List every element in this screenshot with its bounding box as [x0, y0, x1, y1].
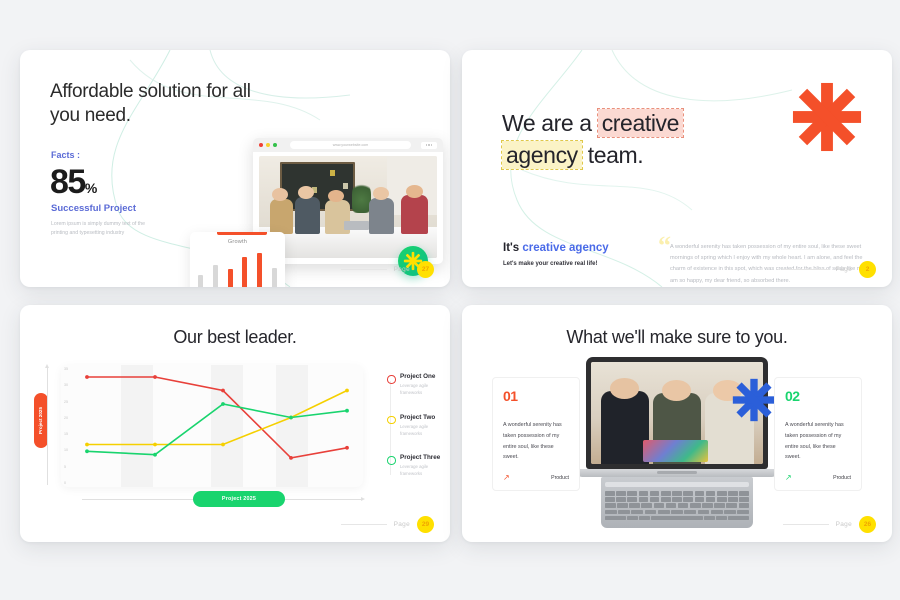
slide-creative-agency[interactable]: We are a creative agency team. It's crea… — [462, 50, 892, 287]
heading-highlight-agency: agency — [502, 141, 582, 169]
y-tick: 20 — [64, 416, 68, 420]
subheading-accent: creative agency — [522, 242, 608, 254]
y-axis — [47, 367, 48, 485]
line-chart-plot — [75, 367, 355, 485]
close-icon[interactable] — [259, 143, 263, 147]
menu-icon[interactable] — [421, 142, 437, 149]
card-link-label[interactable]: Product — [833, 475, 851, 481]
subheading-prefix: It's — [503, 242, 522, 254]
card-text: A wonderful serenity has taken possessio… — [503, 420, 569, 463]
legend-title: Project Two — [400, 414, 448, 421]
y-tick: 30 — [64, 383, 68, 387]
heading-part-plain: We are a — [502, 110, 598, 136]
feature-card-01[interactable]: 01 A wonderful serenity has taken posses… — [492, 377, 580, 491]
footer-rule — [341, 269, 387, 270]
team-meeting-photo — [259, 156, 437, 258]
y-tick: 10 — [64, 448, 68, 452]
asterisk-icon — [731, 377, 777, 423]
heading-highlight-creative: creative — [598, 109, 683, 137]
body-text: Lorem ipsum is simply dummy text of the … — [51, 220, 156, 238]
legend-title: Project Three — [400, 454, 448, 461]
page-title: Affordable solution for all you need. — [50, 80, 260, 129]
laptop-base — [577, 469, 777, 477]
y-tick: 0 — [64, 481, 68, 485]
slide-footer: Page 29 — [341, 516, 434, 533]
card-number: 01 — [503, 388, 569, 404]
y-tick: 5 — [64, 465, 68, 469]
legend-item-project-three[interactable]: Project Three Leverage agile frameworks — [387, 454, 448, 478]
card-number: 02 — [785, 388, 851, 404]
slide-what-well-make-sure[interactable]: What we'll make sure to you. — [462, 305, 892, 542]
axis-label-horizontal: Project 2025 — [193, 491, 285, 507]
tagline: Let's make your creative real life! — [503, 261, 597, 267]
facts-label: Facts : — [51, 150, 80, 160]
y-tick: 35 — [64, 367, 68, 371]
slide-footer: Page 2 — [783, 261, 876, 278]
footer-rule — [783, 269, 829, 270]
legend-item-project-two[interactable]: Project Two Leverage agile frameworks — [387, 414, 448, 438]
minimize-icon[interactable] — [266, 143, 270, 147]
slide-deck: Affordable solution for all you need. Fa… — [0, 0, 900, 600]
page-number-badge: 2 — [859, 261, 876, 278]
chart-accent-bar — [217, 232, 267, 235]
chart-bars — [198, 252, 277, 287]
project-legend: Project One Leverage agile frameworks Pr… — [387, 373, 448, 495]
axis-label-vertical: Project 2025 — [34, 393, 48, 448]
slide-our-best-leader[interactable]: Our best leader. Project 2025 0 5 10 15 … — [20, 305, 450, 542]
page-number-badge: 29 — [417, 516, 434, 533]
growth-bar-chart: Growth Jan Feb Mar Apr May Jun — [190, 232, 285, 287]
legend-desc: Leverage agile frameworks — [400, 463, 448, 478]
chart-title: Growth — [190, 239, 285, 245]
maximize-icon[interactable] — [273, 143, 277, 147]
footer-rule — [783, 524, 829, 525]
arrow-up-right-icon[interactable]: ↗ — [503, 474, 510, 482]
y-tick: 15 — [64, 432, 68, 436]
legend-desc: Leverage agile frameworks — [400, 382, 448, 397]
page-title: We are a creative agency team. — [502, 108, 742, 171]
legend-desc: Leverage agile frameworks — [400, 423, 448, 438]
y-tick: 25 — [64, 400, 68, 404]
y-axis-ticks: 0 5 10 15 20 25 30 35 — [64, 367, 68, 485]
footer-rule — [341, 524, 387, 525]
asterisk-icon — [790, 80, 864, 154]
slide-affordable-solution[interactable]: Affordable solution for all you need. Fa… — [20, 50, 450, 287]
slide-footer: Page 27 — [341, 261, 434, 278]
stat-value: 85% — [50, 163, 97, 202]
feature-card-02[interactable]: 02 A wonderful serenity has taken posses… — [774, 377, 862, 491]
subheading: It's creative agency — [503, 242, 609, 254]
browser-toolbar: www.yourwebsite.com — [253, 138, 443, 152]
legend-item-project-one[interactable]: Project One Leverage agile frameworks — [387, 373, 448, 397]
stat-caption: Successful Project — [51, 203, 136, 214]
footer-label: Page — [836, 521, 852, 528]
url-input[interactable]: www.yourwebsite.com — [290, 141, 411, 149]
footer-label: Page — [394, 266, 410, 273]
arrow-up-right-icon[interactable]: ↗ — [785, 474, 792, 482]
page-number-badge: 26 — [859, 516, 876, 533]
card-link-label[interactable]: Product — [551, 475, 569, 481]
slide-footer: Page 26 — [783, 516, 876, 533]
page-title: What we'll make sure to you. — [462, 327, 892, 348]
footer-label: Page — [836, 266, 852, 273]
legend-title: Project One — [400, 373, 448, 380]
page-title: Our best leader. — [20, 327, 450, 348]
stat-unit: % — [85, 180, 97, 196]
heading-part-team: team. — [582, 142, 644, 168]
footer-label: Page — [394, 521, 410, 528]
card-text: A wonderful serenity has taken possessio… — [785, 420, 851, 463]
page-number-badge: 27 — [417, 261, 434, 278]
laptop-keyboard — [601, 477, 753, 528]
